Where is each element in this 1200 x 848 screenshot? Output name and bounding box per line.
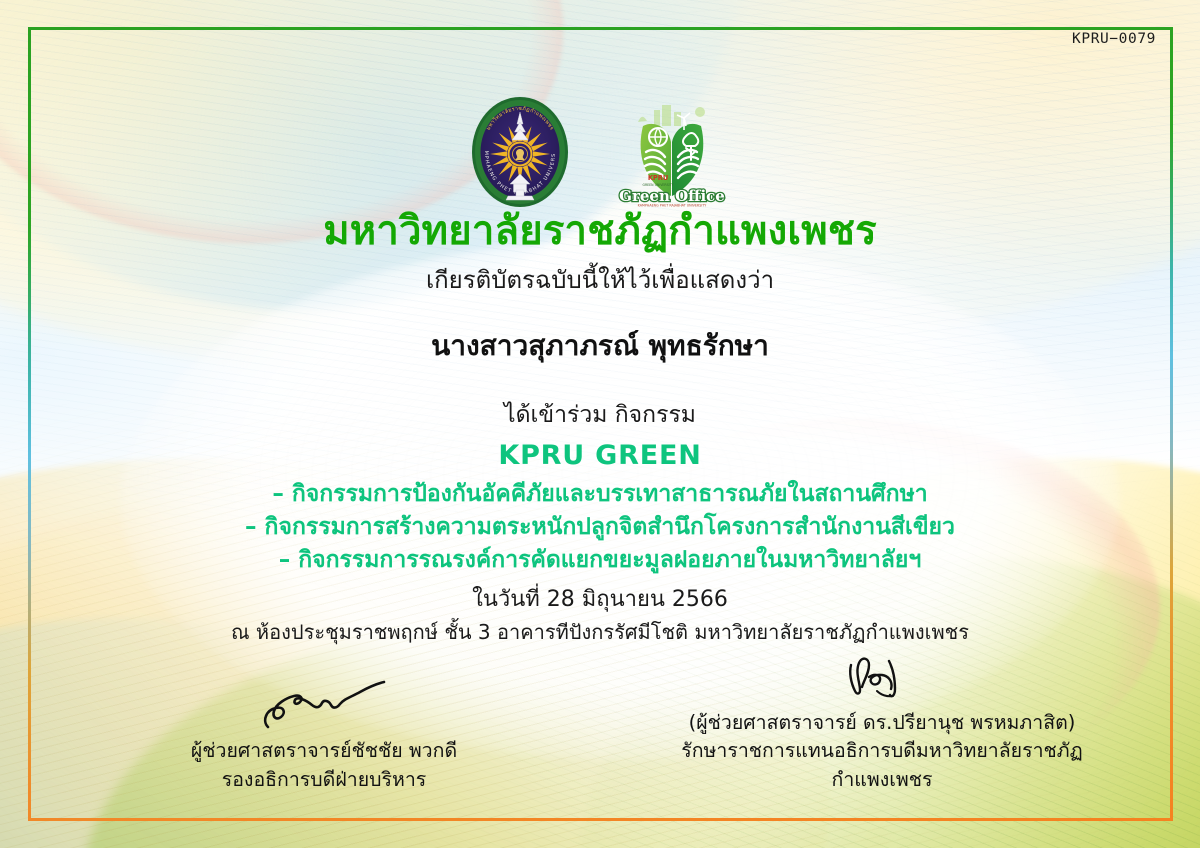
signature-block-left: ผู้ช่วยศาสตราจารย์ชัชชัย พวกดี รองอธิการ… [74, 673, 574, 794]
signature-name-right: (ผู้ช่วยศาสตราจารย์ ดร.ปรียานุช พรหมภาสิ… [632, 709, 1132, 737]
green-office-leaf-icon: KPRU GREEN UNIVERSITY Green Office KAMPH… [614, 96, 730, 212]
serial-number: KPRU−0079 [1072, 31, 1156, 47]
activity-item: – กิจกรรมการรณรงค์การคัดแยกขยะมูลฝอยภายใ… [0, 544, 1200, 577]
activity-list: – กิจกรรมการป้องกันอัคคีภัยและบรรเทาสาธา… [0, 478, 1200, 576]
organization-title: มหาวิทยาลัยราชภัฏกำแพงเพชร [0, 208, 1200, 255]
signature-role-right: รักษาราชการแทนอธิการบดีมหาวิทยาลัยราชภัฏ… [632, 737, 1132, 794]
statement-line: เกียรติบัตรฉบับนี้ให้ไว้เพื่อแสดงว่า [0, 265, 1200, 296]
signature-mark-right-icon [632, 645, 1132, 707]
program-name: KPRU GREEN [0, 439, 1200, 473]
certificate-content: KPRU−0079 [0, 0, 1200, 848]
event-venue: ณ ห้องประชุมราชพฤกษ์ ชั้น 3 อาคารทีปังกร… [0, 619, 1200, 645]
activity-item: – กิจกรรมการสร้างความตระหนักปลูกจิตสำนึก… [0, 511, 1200, 544]
signature-role-left: รองอธิการบดีฝ่ายบริหาร [74, 766, 574, 794]
signature-row: ผู้ช่วยศาสตราจารย์ชัชชัย พวกดี รองอธิการ… [60, 645, 1140, 794]
svg-text:KPRU: KPRU [648, 174, 668, 182]
logo-row: มหาวิทยาลัยราชภัฏกำแพงเพชร KAMPHAENG PHE… [0, 96, 1200, 212]
event-date: ในวันที่ 28 มิถุนายน 2566 [0, 586, 1200, 615]
svg-text:Green Office: Green Office [619, 187, 725, 205]
certificate-page: KPRU−0079 [0, 0, 1200, 848]
signature-name-left: ผู้ช่วยศาสตราจารย์ชัชชัย พวกดี [74, 737, 574, 765]
activity-item: – กิจกรรมการป้องกันอัคคีภัยและบรรเทาสาธา… [0, 478, 1200, 511]
svg-text:KAMPHAENG PHET RAJABHAT UNIVER: KAMPHAENG PHET RAJABHAT UNIVERSITY [638, 204, 708, 208]
signature-block-right: (ผู้ช่วยศาสตราจารย์ ดร.ปรียานุช พรหมภาสิ… [632, 645, 1132, 794]
university-seal-icon: มหาวิทยาลัยราชภัฏกำแพงเพชร KAMPHAENG PHE… [470, 96, 570, 212]
recipient-name: นางสาวสุภาภรณ์ พุทธรักษา [0, 328, 1200, 364]
participation-label: ได้เข้าร่วม กิจกรรม [0, 401, 1200, 431]
certificate-text-block: มหาวิทยาลัยราชภัฏกำแพงเพชร เกียรติบัตรฉบ… [0, 208, 1200, 645]
signature-mark-left-icon [74, 673, 574, 735]
